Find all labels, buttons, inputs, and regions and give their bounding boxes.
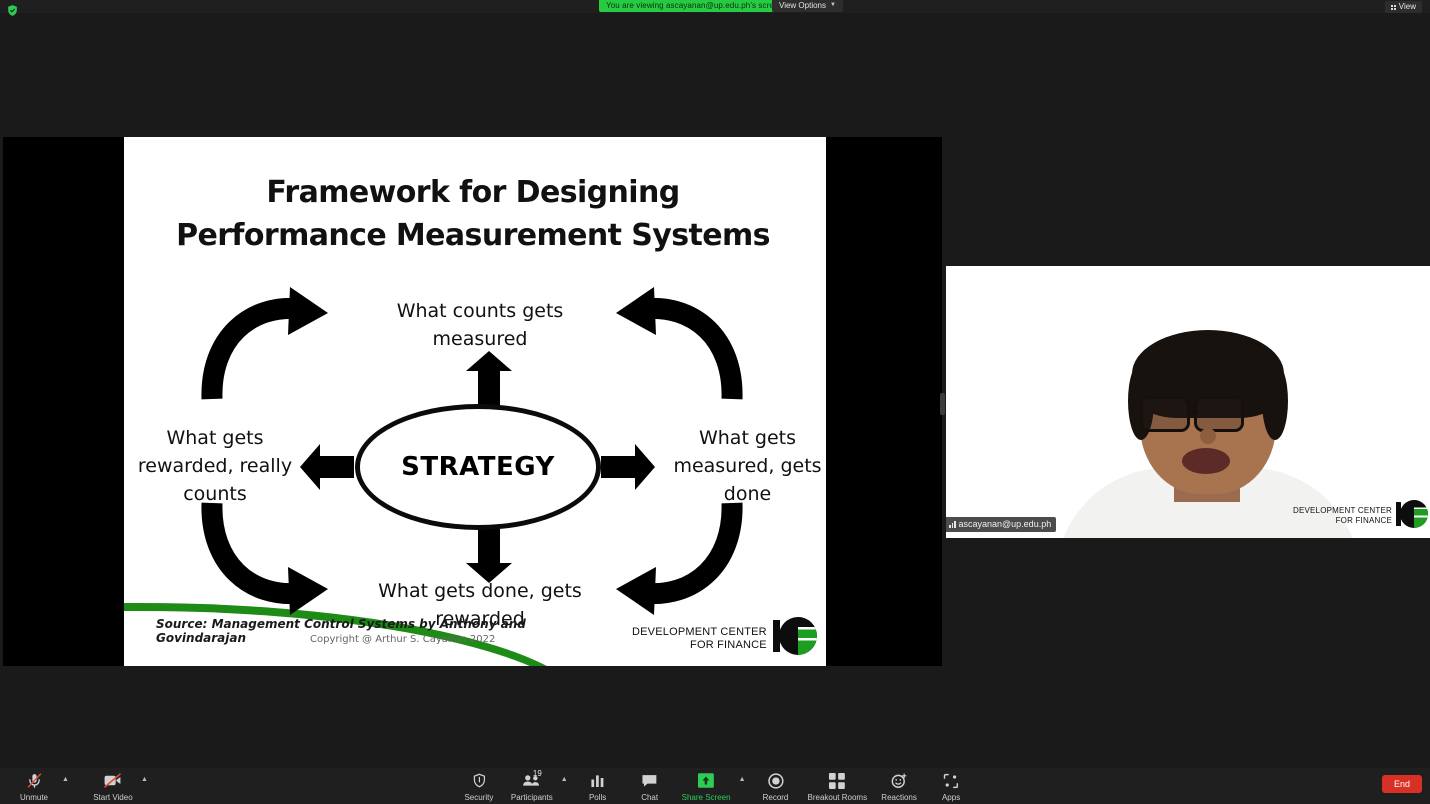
- view-options-label: View Options: [779, 0, 826, 12]
- end-meeting-button[interactable]: End: [1382, 775, 1422, 793]
- security-label: Security: [464, 792, 493, 803]
- chat-label: Chat: [641, 792, 658, 803]
- view-button-label: View: [1399, 1, 1416, 13]
- microphone-muted-icon: [26, 772, 43, 789]
- apps-button[interactable]: Apps: [925, 770, 977, 803]
- video-background: DEVELOPMENT CENTER FOR FINANCE: [946, 266, 1430, 538]
- share-screen-button[interactable]: Share Screen: [676, 770, 737, 803]
- breakout-rooms-button[interactable]: Breakout Rooms: [802, 770, 874, 803]
- share-screen-icon: [698, 772, 714, 789]
- participants-label: Participants: [511, 792, 553, 803]
- apps-label: Apps: [942, 792, 960, 803]
- chat-button[interactable]: Chat: [624, 770, 676, 803]
- dcf-logo-text: DEVELOPMENT CENTER FOR FINANCE: [632, 626, 767, 652]
- presenter-figure: [1098, 332, 1318, 538]
- audio-options-chevron-icon[interactable]: ▲: [58, 776, 73, 783]
- video-dcf-logo: DEVELOPMENT CENTER FOR FINANCE: [1293, 500, 1428, 532]
- participants-button[interactable]: 19 Participants: [505, 770, 559, 803]
- curved-arrow-bottom-right-icon: [606, 495, 746, 615]
- video-dcf-logo-line-1: DEVELOPMENT CENTER: [1293, 506, 1392, 516]
- chevron-down-icon: ▼: [830, 0, 836, 11]
- security-button[interactable]: Security: [453, 770, 505, 803]
- participant-video-tile[interactable]: DEVELOPMENT CENTER FOR FINANCE ascayanan…: [946, 266, 1430, 538]
- polls-label: Polls: [589, 792, 606, 803]
- toolbar-center-group: Security 19 Participants ▲: [453, 770, 977, 803]
- view-layout-button[interactable]: View: [1385, 1, 1422, 13]
- video-options-chevron-icon[interactable]: ▲: [137, 776, 152, 783]
- curved-arrow-top-right-icon: [606, 287, 746, 407]
- video-dcf-logo-text: DEVELOPMENT CENTER FOR FINANCE: [1293, 506, 1392, 526]
- reactions-button[interactable]: Reactions: [873, 770, 925, 803]
- shield-icon: [471, 772, 486, 789]
- top-bar: You are viewing ascayanan@up.edu.ph's sc…: [0, 0, 1430, 13]
- video-dcf-logo-line-2: FOR FINANCE: [1293, 516, 1392, 526]
- record-button[interactable]: Record: [750, 770, 802, 803]
- curved-arrow-bottom-left-icon: [198, 495, 338, 615]
- arrow-right-icon: [601, 456, 637, 478]
- audio-control-group: Unmute ▲: [8, 770, 73, 803]
- zoom-meeting-window: You are viewing ascayanan@up.edu.ph's sc…: [0, 0, 1430, 804]
- polls-button[interactable]: Polls: [572, 770, 624, 803]
- participants-chevron-icon[interactable]: ▲: [557, 776, 572, 783]
- start-video-button[interactable]: Start Video: [87, 770, 139, 803]
- toolbar-left-group: Unmute ▲ Start Video ▲: [8, 770, 152, 803]
- record-circle-icon: [768, 772, 784, 789]
- shared-screen-region[interactable]: Framework for Designing Performance Meas…: [3, 137, 942, 666]
- slide-page: Framework for Designing Performance Meas…: [120, 137, 826, 666]
- chat-bubble-icon: [641, 772, 658, 789]
- reactions-label: Reactions: [881, 792, 917, 803]
- panel-drag-handle[interactable]: [940, 393, 945, 415]
- reactions-smiley-icon: [891, 772, 907, 789]
- strategy-label: STRATEGY: [401, 452, 555, 482]
- signal-bars-icon: [949, 521, 956, 528]
- start-video-label: Start Video: [93, 792, 132, 803]
- view-options-button[interactable]: View Options ▼: [772, 0, 843, 12]
- breakout-rooms-icon: [829, 772, 845, 789]
- dcf-logo-line-1: DEVELOPMENT CENTER: [632, 626, 767, 639]
- dcf-logo-mark-icon: [773, 617, 817, 661]
- encryption-shield-icon[interactable]: [6, 4, 19, 17]
- camera-off-icon: [103, 772, 122, 789]
- share-screen-label: Share Screen: [682, 792, 731, 803]
- unmute-button[interactable]: Unmute: [8, 770, 60, 803]
- meeting-toolbar: Unmute ▲ Start Video ▲: [0, 768, 1430, 804]
- label-what-counts-gets-measured: What counts gets measured: [360, 297, 600, 353]
- video-control-group: Start Video ▲: [87, 770, 152, 803]
- participant-name-label: ascayanan@up.edu.ph: [946, 517, 1056, 532]
- screen-share-banner: You are viewing ascayanan@up.edu.ph's sc…: [599, 0, 790, 12]
- breakout-rooms-label: Breakout Rooms: [808, 792, 868, 803]
- unmute-label: Unmute: [20, 792, 48, 803]
- participants-count-badge: 19: [533, 769, 542, 778]
- curved-arrow-top-left-icon: [198, 287, 338, 407]
- share-screen-chevron-icon[interactable]: ▲: [735, 776, 750, 783]
- record-label: Record: [763, 792, 789, 803]
- video-dcf-logo-mark-icon: [1396, 500, 1428, 532]
- presentation-slide: Framework for Designing Performance Meas…: [120, 137, 826, 666]
- slide-title: Framework for Designing Performance Meas…: [120, 171, 826, 257]
- slide-title-line-1: Framework for Designing: [120, 171, 826, 214]
- label-what-gets-measured-gets-done: What gets measured, gets done: [660, 424, 826, 508]
- arrow-down-icon: [478, 529, 500, 565]
- share-screen-group: Share Screen ▲: [676, 770, 750, 803]
- dcf-logo-line-2: FOR FINANCE: [632, 639, 767, 652]
- participants-group: 19 Participants ▲: [505, 770, 572, 803]
- label-what-gets-rewarded-really-counts: What gets rewarded, really counts: [120, 424, 310, 508]
- apps-icon: [943, 772, 959, 789]
- arrow-left-icon: [318, 456, 354, 478]
- dcf-logo: DEVELOPMENT CENTER FOR FINANCE: [632, 617, 817, 661]
- participant-name-text: ascayanan@up.edu.ph: [959, 518, 1052, 531]
- bar-chart-icon: [590, 772, 605, 789]
- arrow-up-icon: [478, 369, 500, 405]
- grid-layout-icon: [1391, 5, 1396, 10]
- strategy-ellipse: STRATEGY: [355, 404, 601, 530]
- slide-title-line-2: Performance Measurement Systems: [120, 214, 826, 257]
